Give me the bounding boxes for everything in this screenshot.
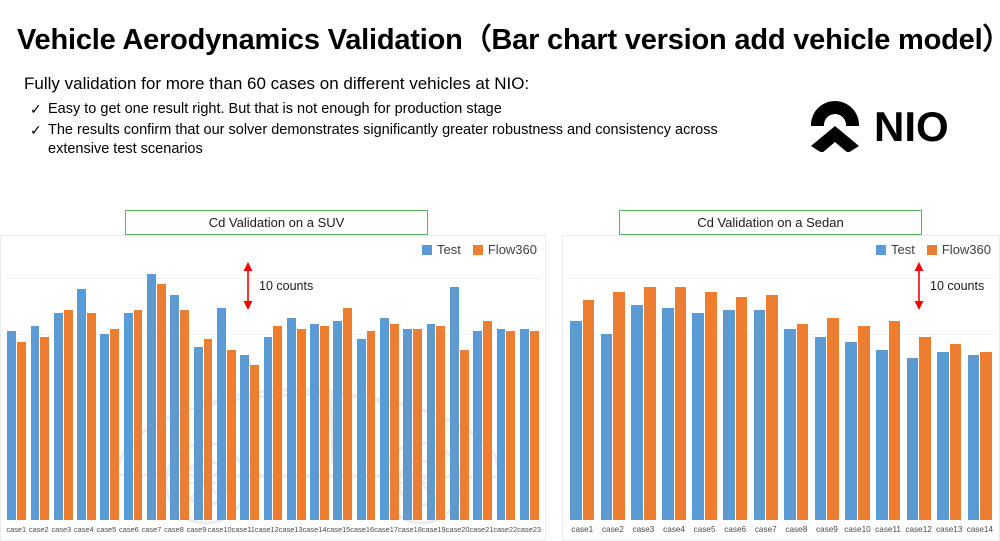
x-axis-label: case14: [965, 522, 996, 538]
bar-flow360: [297, 329, 306, 520]
x-axis-label: case23: [517, 522, 541, 538]
bar-flow360: [64, 310, 73, 520]
bar-test: [845, 342, 857, 520]
bar-group: [781, 258, 812, 520]
legend-item-flow360: Flow360: [927, 242, 991, 257]
bar-flow360: [827, 318, 839, 520]
chart-title-suv-label: Cd Validation on a SUV: [209, 215, 345, 230]
x-axis-label: case21: [470, 522, 494, 538]
x-axis-label: case5: [689, 522, 720, 538]
legend-item-test: Test: [876, 242, 915, 257]
bar-flow360: [180, 310, 189, 520]
bar-flow360: [950, 344, 962, 520]
bar-flow360: [766, 295, 778, 520]
bar-flow360: [367, 331, 376, 520]
bar-group: [191, 258, 214, 520]
bar-test: [631, 305, 643, 520]
bar-group: [750, 258, 781, 520]
x-axis-label: case18: [398, 522, 422, 538]
bar-flow360: [613, 292, 625, 520]
chart-title-suv: Cd Validation on a SUV: [125, 210, 428, 235]
bar-flow360: [530, 331, 539, 520]
bar-test: [754, 310, 766, 520]
bar-test: [403, 329, 412, 520]
bullet-list: ✓ Easy to get one result right. But that…: [30, 100, 770, 161]
bar-test: [723, 310, 735, 520]
bar-flow360: [273, 326, 282, 520]
bar-flow360: [413, 329, 422, 520]
x-axis-label: case12: [903, 522, 934, 538]
legend-item-flow360: Flow360: [473, 242, 537, 257]
legend-suv: Test Flow360: [422, 242, 537, 257]
bar-flow360: [736, 297, 748, 520]
bar-test: [333, 321, 342, 520]
bar-flow360: [227, 350, 236, 520]
legend-label-flow360: Flow360: [942, 242, 991, 257]
bar-test: [310, 324, 319, 521]
bar-group: [628, 258, 659, 520]
bar-group: [812, 258, 843, 520]
bar-group: [494, 258, 517, 520]
bar-group: [331, 258, 354, 520]
bar-flow360: [506, 331, 515, 520]
bar-group: [720, 258, 751, 520]
x-axis-label: case11: [232, 522, 255, 538]
x-axis-label: case5: [95, 522, 118, 538]
x-axis-label: case20: [446, 522, 470, 538]
legend-swatch-test-icon: [422, 245, 432, 255]
bar-flow360: [460, 350, 469, 520]
bar-flow360: [436, 326, 445, 520]
bar-test: [54, 313, 63, 520]
legend-swatch-flow360-icon: [927, 245, 937, 255]
check-icon: ✓: [30, 121, 48, 140]
bar-group: [842, 258, 873, 520]
list-item-label: Easy to get one result right. But that i…: [48, 100, 502, 119]
x-axis-label: case17: [374, 522, 398, 538]
x-axis-label: case6: [118, 522, 141, 538]
x-axis-label: case1: [567, 522, 598, 538]
x-axis-label: case14: [303, 522, 327, 538]
x-axis-label: case22: [493, 522, 517, 538]
x-axis-label: case7: [140, 522, 163, 538]
bar-test: [147, 274, 156, 520]
bar-flow360: [858, 326, 870, 520]
bar-test: [427, 324, 436, 521]
nio-wordmark: NIO: [874, 103, 949, 150]
bar-group: [354, 258, 377, 520]
bar-flow360: [919, 337, 931, 520]
x-axis-label: case4: [73, 522, 96, 538]
bar-group: [215, 258, 238, 520]
bar-test: [570, 321, 582, 520]
x-axis-label: case6: [720, 522, 751, 538]
legend-label-test: Test: [437, 242, 461, 257]
bar-flow360: [644, 287, 656, 520]
check-icon: ✓: [30, 100, 48, 119]
bar-group: [659, 258, 690, 520]
nio-mark-icon: [811, 101, 859, 152]
bar-test: [7, 331, 16, 520]
bar-test: [692, 313, 704, 520]
bar-flow360: [250, 365, 259, 520]
bar-test: [601, 334, 613, 520]
bar-flow360: [797, 324, 809, 521]
legend-sedan: Test Flow360: [876, 242, 991, 257]
x-axis-label: case19: [422, 522, 446, 538]
bar-test: [815, 337, 827, 520]
x-axis-label: case10: [208, 522, 232, 538]
x-axis-label: case3: [50, 522, 73, 538]
bar-flow360: [343, 308, 352, 520]
legend-swatch-test-icon: [876, 245, 886, 255]
bar-flow360: [157, 284, 166, 520]
bar-group: [121, 258, 144, 520]
bar-flow360: [889, 321, 901, 520]
x-axis-label: case10: [842, 522, 873, 538]
bar-group: [75, 258, 98, 520]
bar-flow360: [483, 321, 492, 520]
bar-group: [401, 258, 424, 520]
bar-test: [217, 308, 226, 520]
list-item: ✓ Easy to get one result right. But that…: [30, 100, 770, 119]
bar-group: [598, 258, 629, 520]
bar-flow360: [320, 326, 329, 520]
annotation-10-counts-suv: 10 counts: [242, 262, 313, 310]
bar-group: [689, 258, 720, 520]
bar-test: [784, 329, 796, 520]
bar-test: [264, 337, 273, 520]
x-axis-label: case7: [750, 522, 781, 538]
x-axis-label: case2: [598, 522, 629, 538]
legend-item-test: Test: [422, 242, 461, 257]
bar-group: [98, 258, 121, 520]
bar-flow360: [390, 324, 399, 521]
nio-logo: NIO: [808, 96, 958, 152]
x-axis-label: case8: [163, 522, 186, 538]
x-axis-label: case1: [5, 522, 28, 538]
x-axis-labels-suv: case1case2case3case4case5case6case7case8…: [5, 522, 541, 538]
bar-test: [170, 295, 179, 520]
bar-flow360: [583, 300, 595, 520]
list-item: ✓ The results confirm that our solver de…: [30, 121, 770, 159]
bar-test: [450, 287, 459, 520]
bar-test: [520, 329, 529, 520]
legend-label-test: Test: [891, 242, 915, 257]
x-axis-label: case15: [326, 522, 350, 538]
x-axis-label: case13: [279, 522, 303, 538]
double-arrow-icon: [913, 262, 925, 310]
x-axis-label: case9: [812, 522, 843, 538]
bar-group: [378, 258, 401, 520]
x-axis-label: case3: [628, 522, 659, 538]
list-item-label: The results confirm that our solver demo…: [48, 121, 770, 159]
bar-flow360: [675, 287, 687, 520]
x-axis-label: case11: [873, 522, 904, 538]
bar-test: [240, 355, 249, 520]
bar-flow360: [17, 342, 26, 520]
bar-group: [567, 258, 598, 520]
x-axis-label: case12: [255, 522, 279, 538]
bar-flow360: [134, 310, 143, 520]
legend-swatch-flow360-icon: [473, 245, 483, 255]
bar-test: [194, 347, 203, 520]
bar-group: [52, 258, 75, 520]
bar-test: [287, 318, 296, 520]
bar-flow360: [110, 329, 119, 520]
bar-flow360: [980, 352, 992, 520]
bar-group: [448, 258, 471, 520]
legend-label-flow360: Flow360: [488, 242, 537, 257]
x-axis-label: case2: [28, 522, 51, 538]
bar-test: [31, 326, 40, 520]
x-axis-label: case16: [350, 522, 374, 538]
bar-test: [876, 350, 888, 520]
bar-test: [77, 289, 86, 520]
bar-test: [100, 334, 109, 520]
bar-group: [424, 258, 447, 520]
bar-group: [873, 258, 904, 520]
bar-group: [471, 258, 494, 520]
x-axis-label: case4: [659, 522, 690, 538]
annotation-label: 10 counts: [259, 279, 313, 293]
bar-test: [124, 313, 133, 520]
bar-group: [5, 258, 28, 520]
intro-text: Fully validation for more than 60 cases …: [24, 74, 529, 94]
annotation-10-counts-sedan: 10 counts: [913, 262, 984, 310]
chart-title-sedan: Cd Validation on a Sedan: [619, 210, 922, 235]
bar-flow360: [705, 292, 717, 520]
bar-flow360: [40, 337, 49, 520]
bar-group: [168, 258, 191, 520]
bar-test: [380, 318, 389, 520]
bar-test: [968, 355, 980, 520]
bar-test: [473, 331, 482, 520]
bar-flow360: [204, 339, 213, 520]
page-title: Vehicle Aerodynamics Validation（Bar char…: [17, 16, 977, 58]
bar-group: [518, 258, 541, 520]
x-axis-label: case13: [934, 522, 965, 538]
bar-test: [357, 339, 366, 520]
bar-test: [497, 329, 506, 520]
x-axis-labels-sedan: case1case2case3case4case5case6case7case8…: [567, 522, 995, 538]
bar-group: [28, 258, 51, 520]
chart-title-sedan-label: Cd Validation on a Sedan: [697, 215, 843, 230]
annotation-label: 10 counts: [930, 279, 984, 293]
bar-test: [907, 358, 919, 520]
bar-test: [937, 352, 949, 520]
x-axis-label: case9: [185, 522, 208, 538]
bar-flow360: [87, 313, 96, 520]
double-arrow-icon: [242, 262, 254, 310]
bar-test: [662, 308, 674, 520]
x-axis-label: case8: [781, 522, 812, 538]
bar-group: [145, 258, 168, 520]
